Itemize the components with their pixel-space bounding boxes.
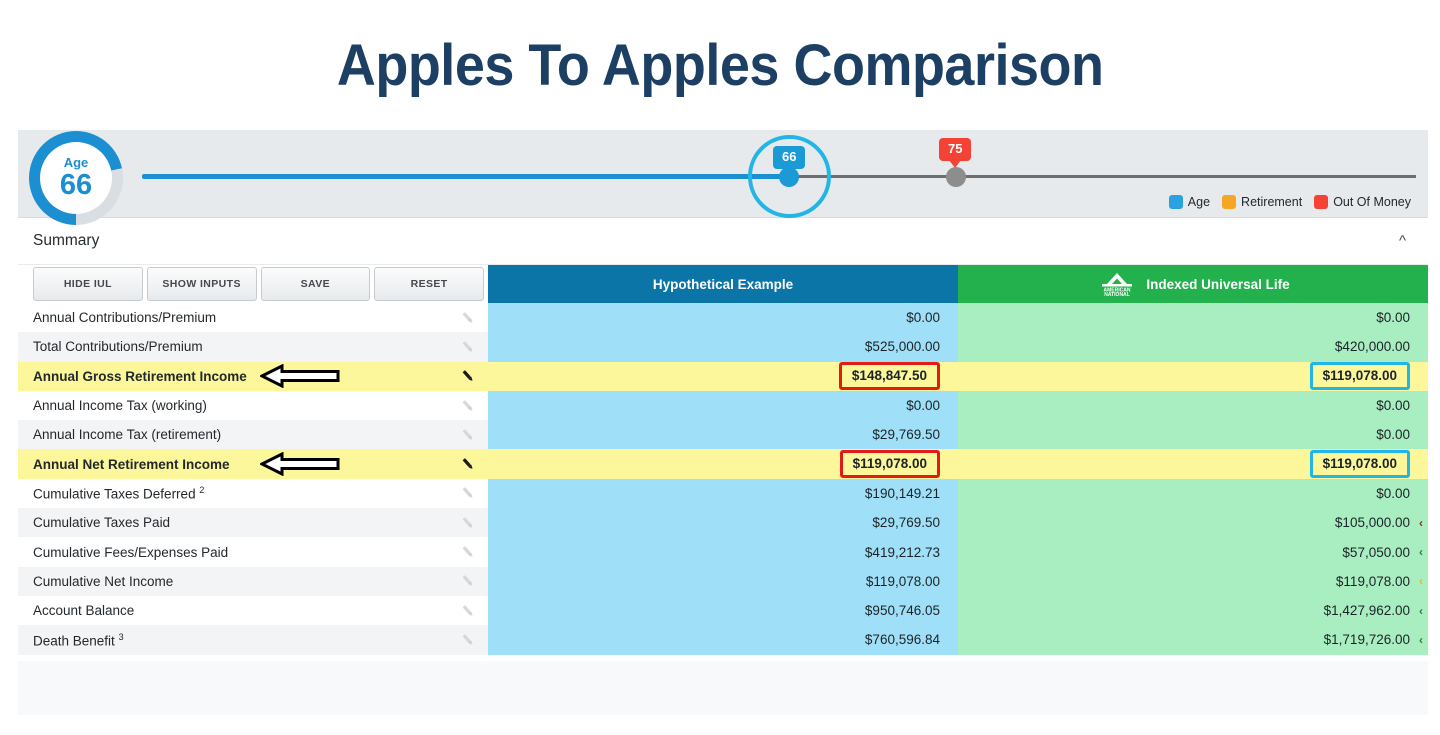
out-of-money-marker-bubble[interactable]: 75: [939, 138, 971, 161]
row-label: Account Balance: [33, 603, 134, 618]
iul-value: $57,050.00: [1342, 545, 1410, 560]
hypothetical-value: $119,078.00: [866, 574, 940, 589]
hypothetical-value-cell: $190,149.21: [488, 479, 958, 508]
edit-pencil-icon[interactable]: [460, 515, 476, 531]
legend-swatch-retirement-icon: [1222, 195, 1236, 209]
column-header-iul-label: Indexed Universal Life: [1146, 277, 1289, 292]
hypothetical-value: $950,746.05: [865, 603, 940, 618]
legend-swatch-out-of-money-icon: [1314, 195, 1328, 209]
edit-pencil-icon[interactable]: [460, 339, 476, 355]
iul-value: $420,000.00: [1335, 339, 1410, 354]
hypothetical-value-highlighted: $119,078.00: [840, 450, 940, 478]
row-label: Annual Income Tax (working): [33, 398, 207, 413]
legend-label-age: Age: [1188, 195, 1210, 209]
table-row: Account Balance$950,746.05$1,427,962.00‹: [18, 596, 1428, 625]
hypothetical-value-cell: $760,596.84: [488, 625, 958, 654]
hypothetical-value-cell: $29,769.50: [488, 508, 958, 537]
hypothetical-value-cell: $119,078.00: [488, 449, 958, 478]
chevron-left-indicator-icon: ‹: [1419, 575, 1423, 587]
chevron-left-indicator-icon: ‹: [1419, 605, 1423, 617]
hide-iul-button[interactable]: HIDE IUL: [33, 267, 143, 301]
row-label-cell: Total Contributions/Premium: [18, 332, 488, 361]
hypothetical-value: $525,000.00: [865, 339, 940, 354]
table-row: Death Benefit 3$760,596.84$1,719,726.00‹: [18, 625, 1428, 654]
iul-value: $1,719,726.00: [1324, 632, 1410, 647]
edit-pencil-icon[interactable]: [460, 368, 476, 384]
row-label: Cumulative Taxes Deferred 2: [33, 485, 204, 502]
hypothetical-value: $29,769.50: [872, 515, 940, 530]
hypothetical-value-cell: $950,746.05: [488, 596, 958, 625]
iul-value-highlighted: $119,078.00: [1310, 450, 1410, 478]
iul-value: $1,427,962.00: [1324, 603, 1410, 618]
timeline-track-filled: [142, 174, 789, 179]
row-label-cell: Cumulative Fees/Expenses Paid: [18, 537, 488, 566]
row-label-cell: Account Balance: [18, 596, 488, 625]
save-button[interactable]: SAVE: [261, 267, 371, 301]
hypothetical-value: $0.00: [906, 398, 940, 413]
hypothetical-value-cell: $119,078.00: [488, 567, 958, 596]
table-row: Cumulative Taxes Deferred 2$190,149.21$0…: [18, 479, 1428, 508]
iul-value: $0.00: [1376, 486, 1410, 501]
row-label-cell: Annual Gross Retirement Income: [18, 362, 488, 391]
row-label-footnote: 3: [119, 632, 124, 642]
page-title: Apples To Apples Comparison: [337, 32, 1104, 99]
edit-pencil-icon[interactable]: [460, 573, 476, 589]
table-row: Annual Contributions/Premium$0.00$0.00: [18, 303, 1428, 332]
age-gauge: Age 66: [29, 131, 123, 225]
row-label: Annual Net Retirement Income: [33, 457, 230, 472]
table-row: Annual Net Retirement Income$119,078.00$…: [18, 449, 1428, 478]
hypothetical-value-cell: $525,000.00: [488, 332, 958, 361]
chevron-left-indicator-icon: ‹: [1419, 517, 1423, 529]
iul-value: $119,078.00: [1336, 574, 1410, 589]
hypothetical-value: $760,596.84: [865, 632, 940, 647]
row-label-footnote: 2: [199, 485, 204, 495]
hypothetical-value-cell: $419,212.73: [488, 537, 958, 566]
show-inputs-button[interactable]: SHOW INPUTS: [147, 267, 257, 301]
table-row: Cumulative Net Income$119,078.00$119,078…: [18, 567, 1428, 596]
row-label-cell: Cumulative Taxes Paid: [18, 508, 488, 537]
iul-value-cell: $0.00: [958, 479, 1428, 508]
left-arrow-annotation-icon: [260, 452, 340, 476]
iul-value-cell: $57,050.00‹: [958, 537, 1428, 566]
row-label-cell: Cumulative Net Income: [18, 567, 488, 596]
edit-pencil-icon[interactable]: [460, 544, 476, 560]
table-bottom-spacer: [18, 655, 1428, 661]
timeline-legend: Age Retirement Out Of Money: [1169, 195, 1416, 209]
table-row: Cumulative Fees/Expenses Paid$419,212.73…: [18, 537, 1428, 566]
hypothetical-value-cell: $0.00: [488, 391, 958, 420]
chevron-left-indicator-icon: ‹: [1419, 634, 1423, 646]
edit-pencil-icon[interactable]: [460, 427, 476, 443]
table-row: Cumulative Taxes Paid$29,769.50$105,000.…: [18, 508, 1428, 537]
row-label-cell: Annual Contributions/Premium: [18, 303, 488, 332]
iul-value-cell: $420,000.00: [958, 332, 1428, 361]
age-marker-value: 66: [782, 149, 796, 164]
legend-label-out-of-money: Out Of Money: [1333, 195, 1411, 209]
timeline-slider-band: Age 66 66 75 Age Retiremen: [18, 130, 1428, 218]
edit-pencil-icon[interactable]: [460, 398, 476, 414]
iul-value: $105,000.00: [1335, 515, 1410, 530]
iul-value-cell: $0.00: [958, 303, 1428, 332]
table-row: Annual Income Tax (retirement)$29,769.50…: [18, 420, 1428, 449]
table-row: Total Contributions/Premium$525,000.00$4…: [18, 332, 1428, 361]
iul-value-cell: $1,719,726.00‹: [958, 625, 1428, 654]
hypothetical-value-highlighted: $148,847.50: [839, 362, 940, 390]
table-row: Annual Income Tax (working)$0.00$0.00: [18, 391, 1428, 420]
iul-value-cell: $119,078.00: [958, 362, 1428, 391]
iul-value-cell: $119,078.00‹: [958, 567, 1428, 596]
row-label-cell: Annual Income Tax (retirement): [18, 420, 488, 449]
column-header-hypothetical-label: Hypothetical Example: [653, 277, 793, 292]
edit-pencil-icon[interactable]: [460, 456, 476, 472]
title-bar: Apples To Apples Comparison: [0, 0, 1440, 130]
summary-title: Summary: [33, 232, 99, 250]
age-gauge-label: Age: [60, 156, 92, 169]
hypothetical-value: $0.00: [906, 310, 940, 325]
chevron-left-indicator-icon: ‹: [1419, 546, 1423, 558]
row-label-cell: Death Benefit 3: [18, 625, 488, 654]
age-slider-handle[interactable]: [779, 167, 799, 187]
row-label-cell: Annual Net Retirement Income: [18, 449, 488, 478]
hypothetical-value-cell: $148,847.50: [488, 362, 958, 391]
age-gauge-value: 66: [60, 171, 92, 200]
row-label: Death Benefit 3: [33, 632, 124, 649]
edit-pencil-icon[interactable]: [460, 632, 476, 648]
table-header-row: HIDE IUL SHOW INPUTS SAVE RESET Hypothet…: [18, 265, 1428, 303]
legend-item-age: Age: [1169, 195, 1210, 209]
hypothetical-value-cell: $29,769.50: [488, 420, 958, 449]
row-label-cell: Cumulative Taxes Deferred 2: [18, 479, 488, 508]
iul-value-cell: $119,078.00: [958, 449, 1428, 478]
column-header-hypothetical: Hypothetical Example: [488, 265, 958, 303]
summary-section-header[interactable]: Summary ^: [18, 218, 1428, 265]
american-national-logo-icon: AMERICAN NATIONAL: [1096, 271, 1138, 297]
row-label-cell: Annual Income Tax (working): [18, 391, 488, 420]
row-label: Annual Gross Retirement Income: [33, 369, 247, 384]
iul-value-cell: $105,000.00‹: [958, 508, 1428, 537]
iul-value: $0.00: [1376, 398, 1410, 413]
reset-button[interactable]: RESET: [374, 267, 484, 301]
iul-value-cell: $1,427,962.00‹: [958, 596, 1428, 625]
left-arrow-annotation-icon: [260, 364, 340, 388]
legend-item-retirement: Retirement: [1222, 195, 1302, 209]
table-row: Annual Gross Retirement Income$148,847.5…: [18, 362, 1428, 391]
row-label: Annual Contributions/Premium: [33, 310, 216, 325]
hypothetical-value-cell: $0.00: [488, 303, 958, 332]
legend-label-retirement: Retirement: [1241, 195, 1302, 209]
row-label: Total Contributions/Premium: [33, 339, 203, 354]
iul-value: $0.00: [1376, 427, 1410, 442]
out-of-money-slider-handle[interactable]: [946, 167, 966, 187]
hypothetical-value: $419,212.73: [865, 545, 940, 560]
iul-value-highlighted: $119,078.00: [1310, 362, 1410, 390]
out-of-money-marker-value: 75: [948, 141, 962, 156]
row-label: Cumulative Fees/Expenses Paid: [33, 545, 228, 560]
row-label: Cumulative Taxes Paid: [33, 515, 170, 530]
legend-item-out-of-money: Out Of Money: [1314, 195, 1411, 209]
column-header-iul: AMERICAN NATIONAL Indexed Universal Life: [958, 265, 1428, 303]
hypothetical-value: $29,769.50: [872, 427, 940, 442]
iul-value-cell: $0.00: [958, 391, 1428, 420]
hypothetical-value: $190,149.21: [865, 486, 940, 501]
edit-pencil-icon[interactable]: [460, 310, 476, 326]
comparison-table: HIDE IUL SHOW INPUTS SAVE RESET Hypothet…: [18, 265, 1428, 661]
edit-pencil-icon[interactable]: [460, 603, 476, 619]
calculator-panel: Age 66 66 75 Age Retiremen: [18, 130, 1428, 715]
table-toolbar: HIDE IUL SHOW INPUTS SAVE RESET: [18, 265, 488, 303]
edit-pencil-icon[interactable]: [460, 485, 476, 501]
row-label: Annual Income Tax (retirement): [33, 427, 221, 442]
timeline-track[interactable]: 66 75: [18, 174, 1428, 180]
chevron-up-icon[interactable]: ^: [1399, 234, 1406, 249]
iul-value-cell: $0.00: [958, 420, 1428, 449]
svg-text:NATIONAL: NATIONAL: [1105, 292, 1130, 297]
timeline-track-remaining: [787, 175, 1416, 178]
legend-swatch-age-icon: [1169, 195, 1183, 209]
age-marker-bubble[interactable]: 66: [773, 146, 805, 169]
row-label: Cumulative Net Income: [33, 574, 173, 589]
iul-value: $0.00: [1376, 310, 1410, 325]
